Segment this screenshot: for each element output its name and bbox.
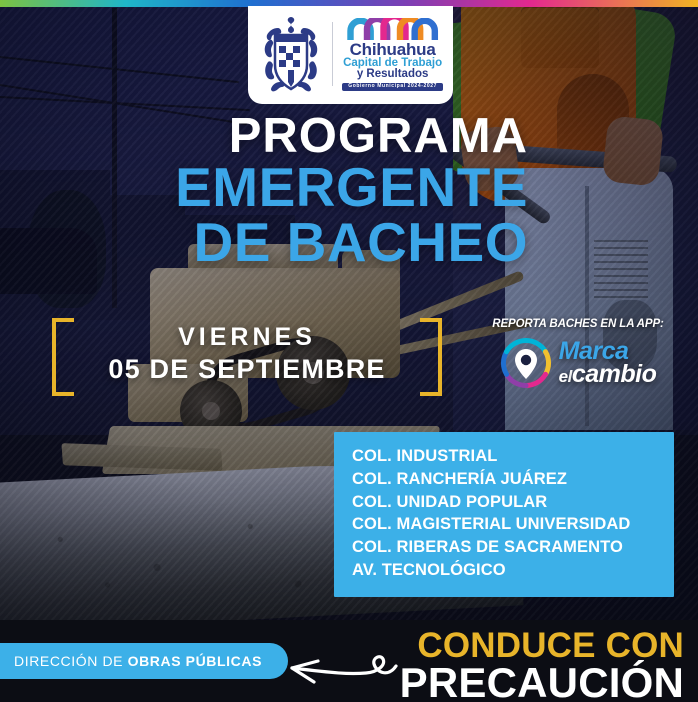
department-label: DIRECCIÓN DE OBRAS PÚBLICAS xyxy=(14,653,262,669)
app-lead-text: REPORTA BACHES EN LA APP: xyxy=(470,318,686,330)
app-name-block: Marca elcambio xyxy=(559,340,657,386)
list-item: COL. INDUSTRIAL xyxy=(352,445,674,468)
date-block: VIERNES 05 DE SEPTIEMBRE xyxy=(52,318,442,396)
list-item: COL. MAGISTERIAL UNIVERSIDAD xyxy=(352,513,674,536)
department-prefix: DIRECCIÓN DE xyxy=(14,653,128,669)
date-full: 05 DE SEPTIEMBRE xyxy=(78,353,416,386)
app-name-prefix: el xyxy=(559,367,572,386)
slogan-line-2: y Resultados xyxy=(357,69,429,81)
headline-line-1: PROGRAMA xyxy=(0,112,528,160)
chihuahua-arches-icon xyxy=(345,18,440,40)
caution-line-1: CONDUCE CON xyxy=(400,630,684,663)
date-text: VIERNES 05 DE SEPTIEMBRE xyxy=(78,322,416,386)
list-item: COL. UNIDAD POPULAR xyxy=(352,491,674,514)
headline-line-2: EMERGENTE xyxy=(0,160,528,215)
app-promo-block: REPORTA BACHES EN LA APP: Marca elcambio xyxy=(470,318,686,389)
headline-block: PROGRAMA EMERGENTE DE BACHEO xyxy=(0,112,538,270)
chihuahua-coat-of-arms-icon xyxy=(260,14,322,94)
footer-bar: DIRECCIÓN DE OBRAS PÚBLICAS CONDUCE CON … xyxy=(0,620,698,702)
headline-line-3: DE BACHEO xyxy=(0,215,528,270)
app-name-main: cambio xyxy=(572,360,657,388)
city-brand-block: Chihuahua Capital de Trabajo y Resultado… xyxy=(342,18,443,91)
street-list: COL. INDUSTRIAL COL. RANCHERÍA JUÁREZ CO… xyxy=(352,445,674,582)
bracket-right-decoration xyxy=(420,318,442,396)
poster-root: Chihuahua Capital de Trabajo y Resultado… xyxy=(0,0,698,702)
government-period: Gobierno Municipal 2024-2027 xyxy=(342,83,443,91)
app-logo-row: Marca elcambio xyxy=(470,337,686,389)
list-item: COL. RIBERAS DE SACRAMENTO xyxy=(352,536,674,559)
list-item: AV. TECNOLÓGICO xyxy=(352,559,674,582)
location-pin-icon[interactable] xyxy=(500,337,552,389)
date-weekday: VIERNES xyxy=(78,322,416,353)
list-item: COL. RANCHERÍA JUÁREZ xyxy=(352,468,674,491)
curved-arrow-icon xyxy=(272,638,402,690)
department-pill: DIRECCIÓN DE OBRAS PÚBLICAS xyxy=(0,643,288,679)
bracket-left-decoration xyxy=(52,318,74,396)
city-name: Chihuahua xyxy=(350,41,436,58)
caution-message: CONDUCE CON PRECAUCIÓN xyxy=(400,630,684,702)
department-name: OBRAS PÚBLICAS xyxy=(128,653,262,669)
municipal-logo-card: Chihuahua Capital de Trabajo y Resultado… xyxy=(248,6,453,104)
app-name-line-2: elcambio xyxy=(559,363,657,386)
caution-line-2: PRECAUCIÓN xyxy=(400,663,684,702)
street-list-panel: COL. INDUSTRIAL COL. RANCHERÍA JUÁREZ CO… xyxy=(334,432,674,597)
